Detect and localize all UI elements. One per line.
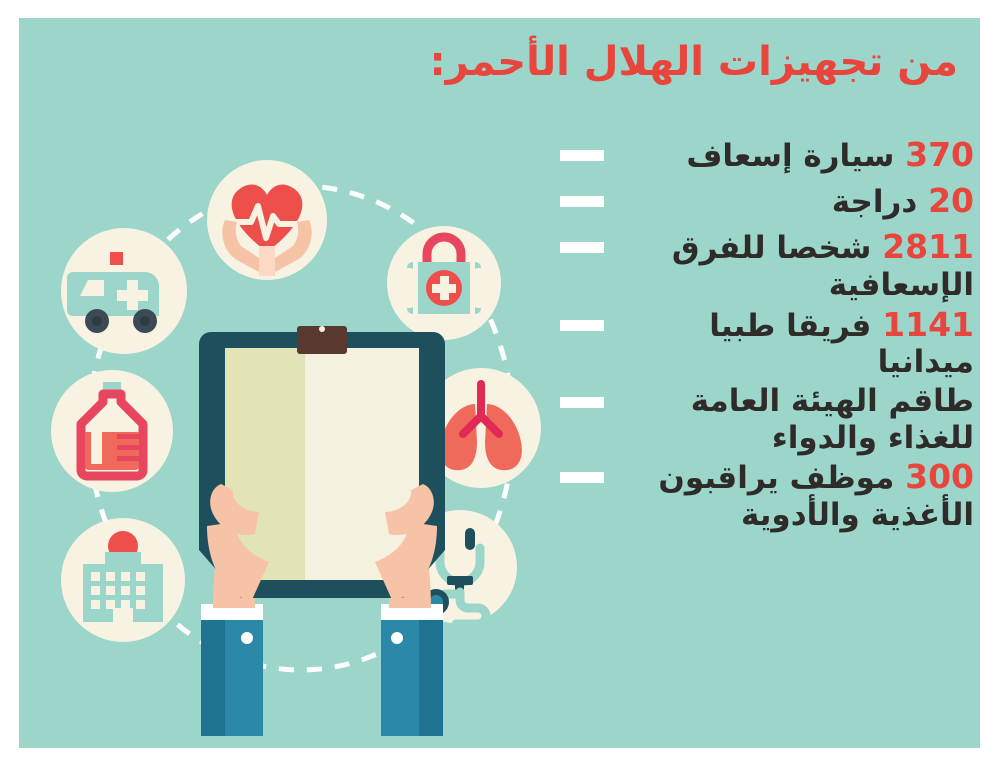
medicine-bottle-icon <box>51 370 173 492</box>
stat-number: 1141 <box>882 305 974 344</box>
stat-number: 300 <box>905 457 974 496</box>
list-item: 20 دراجة <box>560 182 980 226</box>
stat-number: 20 <box>928 181 974 220</box>
illustration-medical-icon-ring <box>39 118 599 738</box>
list-item: 2811 شخصا للفرق الإسعافية <box>560 228 980 304</box>
hospital-icon <box>61 518 185 642</box>
bullet-dash-marker <box>560 196 604 207</box>
stat-label: طاقم الهيئة العامة للغذاء والدواء <box>691 383 974 456</box>
medical-bag-icon <box>387 226 501 340</box>
ambulance-icon <box>61 228 187 354</box>
heart-in-hands-icon <box>207 160 327 280</box>
page-title: من تجهيزات الهلال الأحمر: <box>338 40 958 84</box>
bullet-dash-marker <box>560 472 604 483</box>
bullet-dash-marker <box>560 242 604 253</box>
bullet-dash-marker <box>560 397 604 408</box>
stat-label: سيارة إسعاف <box>686 138 894 174</box>
infographic-poster: من تجهيزات الهلال الأحمر: <box>19 18 980 748</box>
stats-list: 370 سيارة إسعاف 20 دراجة 2811 شخصا للفرق… <box>560 136 980 536</box>
bullet-dash-marker <box>560 150 604 161</box>
stat-label: دراجة <box>832 184 918 220</box>
list-item: طاقم الهيئة العامة للغذاء والدواء <box>560 383 980 456</box>
list-item: 370 سيارة إسعاف <box>560 136 980 180</box>
list-item: 300 موظف يراقبون الأغذية والأدوية <box>560 458 980 534</box>
stat-number: 2811 <box>882 227 974 266</box>
hands-holding-clipboard <box>177 326 467 738</box>
stat-number: 370 <box>905 135 974 174</box>
list-item: 1141 فريقا طبيا ميدانيا <box>560 306 980 382</box>
bullet-dash-marker <box>560 320 604 331</box>
